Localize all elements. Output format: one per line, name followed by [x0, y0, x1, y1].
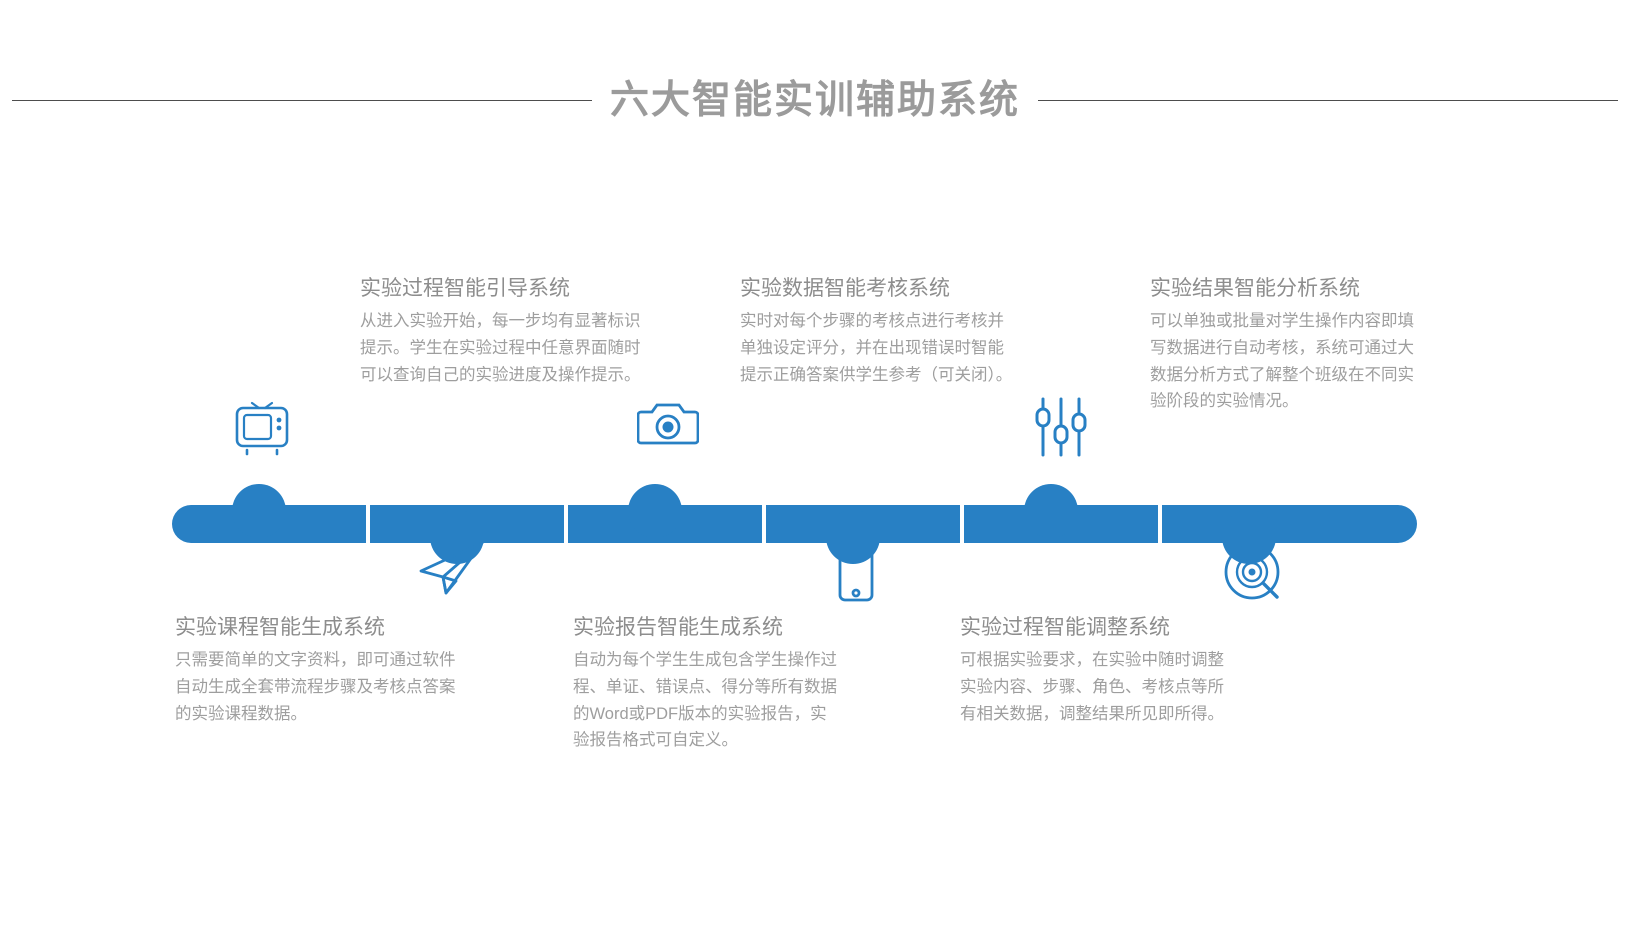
feature-body-line: 自动生成全套带流程步骤及考核点答案: [175, 674, 475, 701]
feature-body-line: 有相关数据，调整结果所见即所得。: [960, 701, 1260, 728]
feature-body-line: 提示正确答案供学生参考（可关闭）。: [740, 362, 1040, 389]
timeline-node-3[interactable]: [628, 484, 682, 538]
feature-body: 只需要简单的文字资料，即可通过软件 自动生成全套带流程步骤及考核点答案 的实验课…: [175, 647, 475, 727]
feature-heading: 实验过程智能调整系统: [960, 615, 1260, 641]
feature-heading: 实验数据智能考核系统: [740, 276, 1040, 302]
feature-body-line: 可根据实验要求，在实验中随时调整: [960, 647, 1260, 674]
feature-body: 自动为每个学生生成包含学生操作过 程、单证、错误点、得分等所有数据 的Word或…: [573, 647, 873, 754]
feature-block-bottom-1: 实验课程智能生成系统 只需要简单的文字资料，即可通过软件 自动生成全套带流程步骤…: [175, 615, 475, 727]
feature-body-line: 实时对每个步骤的考核点进行考核并: [740, 308, 1040, 335]
feature-body-line: 从进入实验开始，每一步均有显著标识: [360, 308, 660, 335]
feature-body-line: 的实验课程数据。: [175, 701, 475, 728]
disc-icon[interactable]: [1222, 542, 1282, 602]
timeline-node-5[interactable]: [1024, 484, 1078, 538]
mobile-phone-icon[interactable]: [836, 540, 876, 602]
timeline-node-1[interactable]: [232, 484, 286, 538]
feature-block-bottom-2: 实验报告智能生成系统 自动为每个学生生成包含学生操作过 程、单证、错误点、得分等…: [573, 615, 873, 754]
feature-body: 可根据实验要求，在实验中随时调整 实验内容、步骤、角色、考核点等所 有相关数据，…: [960, 647, 1260, 727]
feature-body-line: 可以单独或批量对学生操作内容即填: [1150, 308, 1450, 335]
feature-body-line: 实验内容、步骤、角色、考核点等所: [960, 674, 1260, 701]
feature-body-line: 验阶段的实验情况。: [1150, 388, 1450, 415]
feature-body-line: 只需要简单的文字资料，即可通过软件: [175, 647, 475, 674]
title-rule-left: [12, 100, 592, 101]
feature-heading: 实验课程智能生成系统: [175, 615, 475, 641]
timeline-segment-6: [1162, 505, 1417, 543]
feature-heading: 实验报告智能生成系统: [573, 615, 873, 641]
feature-heading: 实验结果智能分析系统: [1150, 276, 1450, 302]
slide-title-bar: 六大智能实训辅助系统: [0, 72, 1630, 128]
page-title: 六大智能实训辅助系统: [610, 81, 1020, 120]
feature-body-line: 提示。学生在实验过程中任意界面随时: [360, 335, 660, 362]
paper-plane-icon[interactable]: [418, 540, 486, 596]
feature-block-top-3: 实验结果智能分析系统 可以单独或批量对学生操作内容即填 写数据进行自动考核，系统…: [1150, 276, 1450, 415]
feature-block-top-1: 实验过程智能引导系统 从进入实验开始，每一步均有显著标识 提示。学生在实验过程中…: [360, 276, 660, 388]
feature-body-line: 的Word或PDF版本的实验报告，实: [573, 701, 873, 728]
television-icon[interactable]: [232, 400, 292, 456]
feature-body-line: 写数据进行自动考核，系统可通过大: [1150, 335, 1450, 362]
feature-body-line: 程、单证、错误点、得分等所有数据: [573, 674, 873, 701]
sliders-icon[interactable]: [1033, 396, 1089, 458]
feature-block-top-2: 实验数据智能考核系统 实时对每个步骤的考核点进行考核并 单独设定评分，并在出现错…: [740, 276, 1040, 388]
title-rule-right: [1038, 100, 1618, 101]
feature-block-bottom-3: 实验过程智能调整系统 可根据实验要求，在实验中随时调整 实验内容、步骤、角色、考…: [960, 615, 1260, 727]
feature-body: 从进入实验开始，每一步均有显著标识 提示。学生在实验过程中任意界面随时 可以查询…: [360, 308, 660, 388]
feature-body-line: 可以查询自己的实验进度及操作提示。: [360, 362, 660, 389]
feature-body-line: 验报告格式可自定义。: [573, 727, 873, 754]
feature-heading: 实验过程智能引导系统: [360, 276, 660, 302]
timeline-bar: [172, 505, 1417, 543]
feature-body: 实时对每个步骤的考核点进行考核并 单独设定评分，并在出现错误时智能 提示正确答案…: [740, 308, 1040, 388]
camera-icon[interactable]: [637, 398, 699, 448]
feature-body-line: 单独设定评分，并在出现错误时智能: [740, 335, 1040, 362]
feature-body: 可以单独或批量对学生操作内容即填 写数据进行自动考核，系统可通过大 数据分析方式…: [1150, 308, 1450, 415]
feature-body-line: 自动为每个学生生成包含学生操作过: [573, 647, 873, 674]
feature-body-line: 数据分析方式了解整个班级在不同实: [1150, 362, 1450, 389]
